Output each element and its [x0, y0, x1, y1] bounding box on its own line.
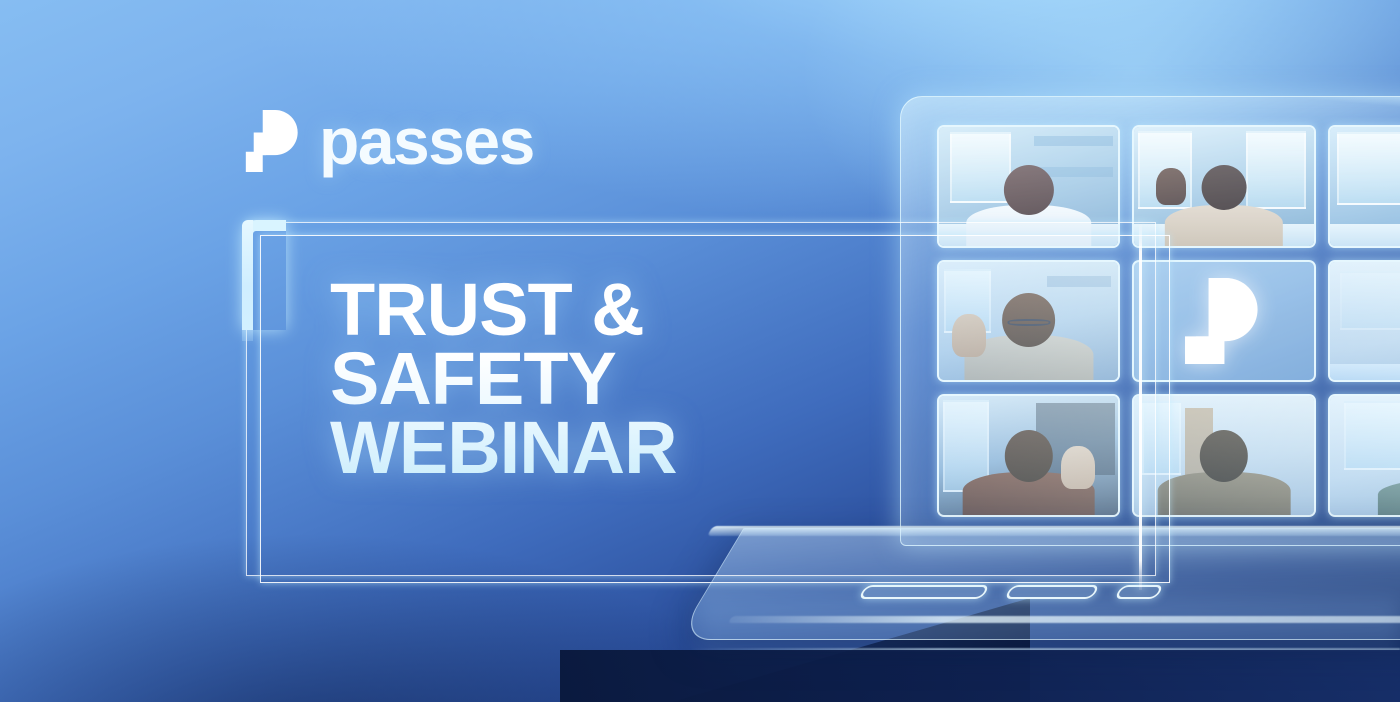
video-call-screen: [900, 96, 1400, 546]
participant-tile[interactable]: [1328, 394, 1400, 517]
key-medium[interactable]: [1004, 585, 1100, 599]
participant-tile[interactable]: [937, 125, 1120, 248]
participant-tile-grid: [937, 125, 1400, 517]
laptop-base: [676, 528, 1400, 640]
decorative-corner-bracket: [242, 220, 286, 330]
brand-lockup: passes: [245, 108, 534, 174]
passes-p-logo-icon: [245, 110, 303, 172]
passes-logo-tile[interactable]: [1132, 260, 1315, 383]
page-title: TRUST & SAFETY WEBINAR: [330, 276, 677, 482]
key-small[interactable]: [1114, 585, 1164, 599]
participant-tile[interactable]: [1132, 394, 1315, 517]
title-line-2: SAFETY: [330, 345, 677, 414]
laptop-keyboard-keys: [858, 585, 1164, 599]
title-line-3: WEBINAR: [330, 414, 677, 483]
brand-wordmark: passes: [319, 108, 534, 174]
key-wide[interactable]: [858, 585, 990, 599]
participant-tile[interactable]: [937, 394, 1120, 517]
participant-tile[interactable]: [1132, 125, 1315, 248]
participant-tile[interactable]: [937, 260, 1120, 383]
floor-highlight-line: [690, 648, 1400, 651]
participant-tile[interactable]: [1328, 260, 1400, 383]
participant-tile[interactable]: [1328, 125, 1400, 248]
foreground-dark-slab: [560, 650, 1400, 702]
webinar-promo-banner: passes TRUST & SAFETY WEBINAR: [0, 0, 1400, 702]
laptop-base-front-line: [728, 616, 1400, 623]
title-line-1: TRUST &: [330, 276, 677, 345]
passes-p-logo-icon: [1185, 278, 1264, 365]
